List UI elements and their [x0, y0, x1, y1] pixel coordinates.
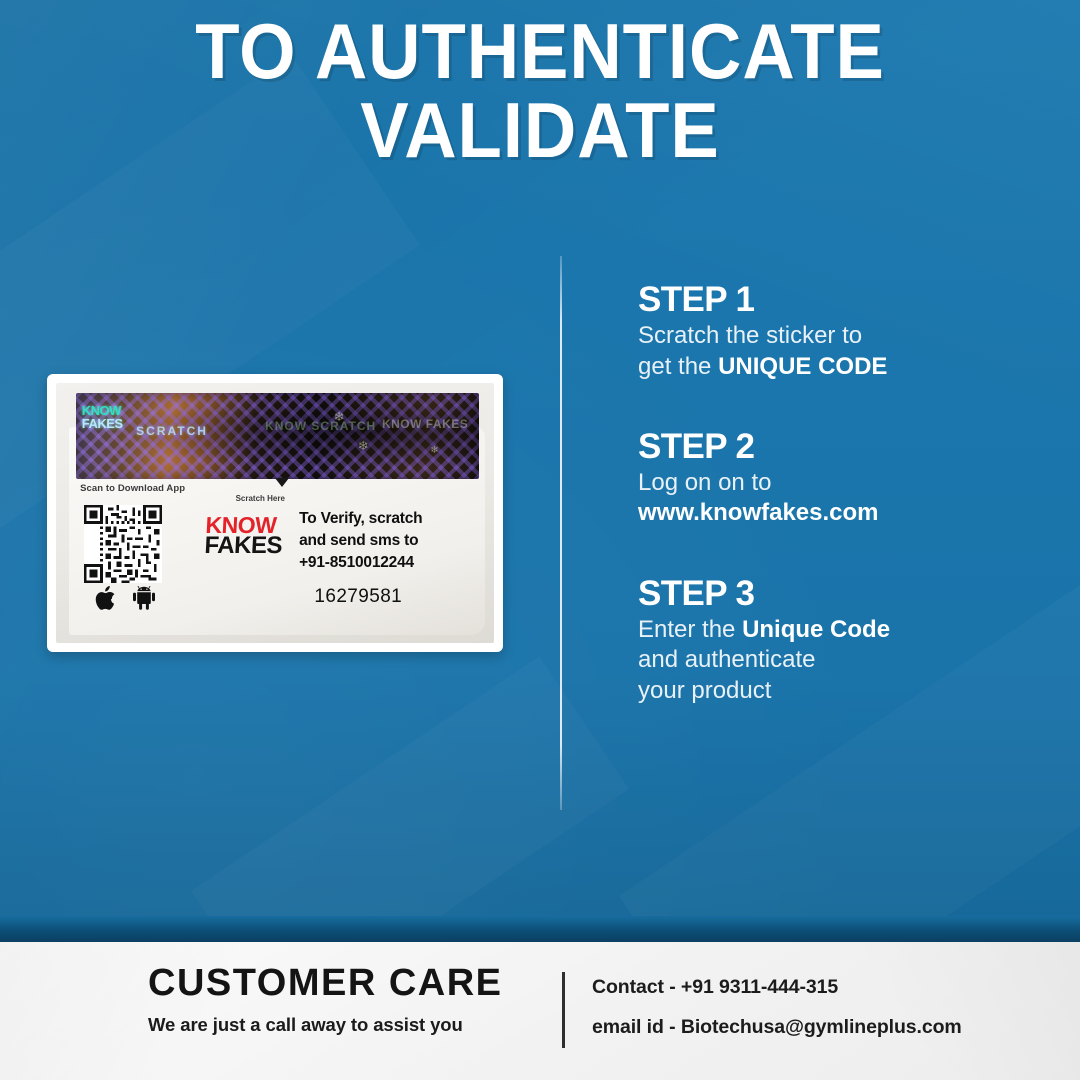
logo-fakes-text: FAKES — [204, 535, 283, 556]
step-1-body-line-1: Scratch the sticker to — [638, 322, 862, 349]
customer-care-block: CUSTOMER CARE We are just a call away to… — [148, 964, 528, 1036]
scan-to-download-label: Scan to Download App — [80, 483, 185, 494]
step-1-body-line-2-pre: get the — [638, 353, 718, 380]
footer-inner: CUSTOMER CARE We are just a call away to… — [0, 942, 1080, 1080]
step-2: STEP 2 Log on on to www.knowfakes.com — [638, 429, 1048, 529]
android-icon — [133, 586, 155, 610]
contact-block: Contact - +91 9311-444-315 email id - Bi… — [592, 976, 962, 1039]
verify-instructions: To Verify, scratch and send sms to +91-8… — [299, 508, 422, 574]
step-1: STEP 1 Scratch the sticker to get the UN… — [638, 282, 1048, 382]
poster-canvas: TO AUTHENTICATE VALIDATE KNOW FAKES SCRA… — [0, 0, 1080, 1080]
step-3-body-line-1-pre: Enter the — [638, 616, 742, 643]
holo-brand-mid: KNOW SCRATCH — [265, 419, 376, 433]
page-title: TO AUTHENTICATE VALIDATE — [0, 14, 1080, 168]
step-2-body-line-1: Log on on to — [638, 469, 771, 496]
contact-phone-line[interactable]: Contact - +91 9311-444-315 — [592, 976, 962, 999]
step-3: STEP 3 Enter the Unique Code and authent… — [638, 576, 1048, 706]
title-line-2: VALIDATE — [38, 93, 1042, 168]
verify-line-1: To Verify, scratch — [299, 508, 422, 530]
steps-list: STEP 1 Scratch the sticker to get the UN… — [638, 282, 1048, 706]
step-1-title: STEP 1 — [638, 282, 1048, 318]
step-3-unique-code-emphasis: Unique Code — [742, 616, 890, 643]
step-1-body: Scratch the sticker to get the UNIQUE CO… — [638, 321, 1048, 381]
footer-top-band — [0, 916, 1080, 942]
sticker-unique-code: 16279581 — [314, 586, 402, 608]
contact-email-line[interactable]: email id - Biotechusa@gymlineplus.com — [592, 1016, 962, 1039]
holo-brand-line-2: FAKES — [82, 416, 123, 431]
vertical-divider — [560, 256, 562, 810]
holo-brand-mark: KNOW FAKES — [82, 405, 123, 430]
step-2-website-link[interactable]: www.knowfakes.com — [638, 498, 1048, 528]
holo-flake-icon-3: ❄ — [430, 445, 438, 456]
holo-flake-icon-2: ❄ — [358, 438, 369, 454]
holo-flake-icon-1: ❄ — [334, 409, 345, 425]
qr-code — [84, 505, 162, 583]
step-1-unique-code-emphasis: UNIQUE CODE — [718, 353, 887, 380]
verify-phone-number: +91-8510012244 — [299, 552, 422, 574]
step-3-title: STEP 3 — [638, 576, 1048, 612]
store-icons — [95, 586, 155, 610]
footer-vertical-divider — [562, 972, 565, 1048]
knowfakes-logo: KNOW FAKES — [204, 516, 284, 556]
holographic-scratch-strip: KNOW FAKES SCRATCH KNOW SCRATCH KNOW FAK… — [76, 393, 479, 479]
step-3-body-line-3: your product — [638, 677, 771, 704]
customer-care-title: CUSTOMER CARE — [148, 964, 528, 1003]
scratch-here-label: Scratch Here — [236, 494, 285, 503]
apple-icon — [95, 586, 115, 610]
holo-brand-right: KNOW FAKES — [382, 417, 468, 431]
step-3-body-line-2: and authenticate — [638, 646, 815, 673]
sticker-photo: KNOW FAKES SCRATCH KNOW SCRATCH KNOW FAK… — [56, 383, 494, 643]
holo-scratch-text: SCRATCH — [136, 424, 208, 438]
step-3-body: Enter the Unique Code and authenticate y… — [638, 615, 1048, 706]
scratch-here-arrow-icon — [275, 478, 289, 487]
step-2-body: Log on on to www.knowfakes.com — [638, 468, 1048, 528]
customer-care-subtitle: We are just a call away to assist you — [148, 1014, 528, 1036]
title-line-1: TO AUTHENTICATE — [38, 14, 1042, 89]
sticker-photo-frame: KNOW FAKES SCRATCH KNOW SCRATCH KNOW FAK… — [47, 374, 503, 652]
footer: CUSTOMER CARE We are just a call away to… — [0, 942, 1080, 1080]
verify-line-2: and send sms to — [299, 530, 422, 552]
step-2-title: STEP 2 — [638, 429, 1048, 465]
